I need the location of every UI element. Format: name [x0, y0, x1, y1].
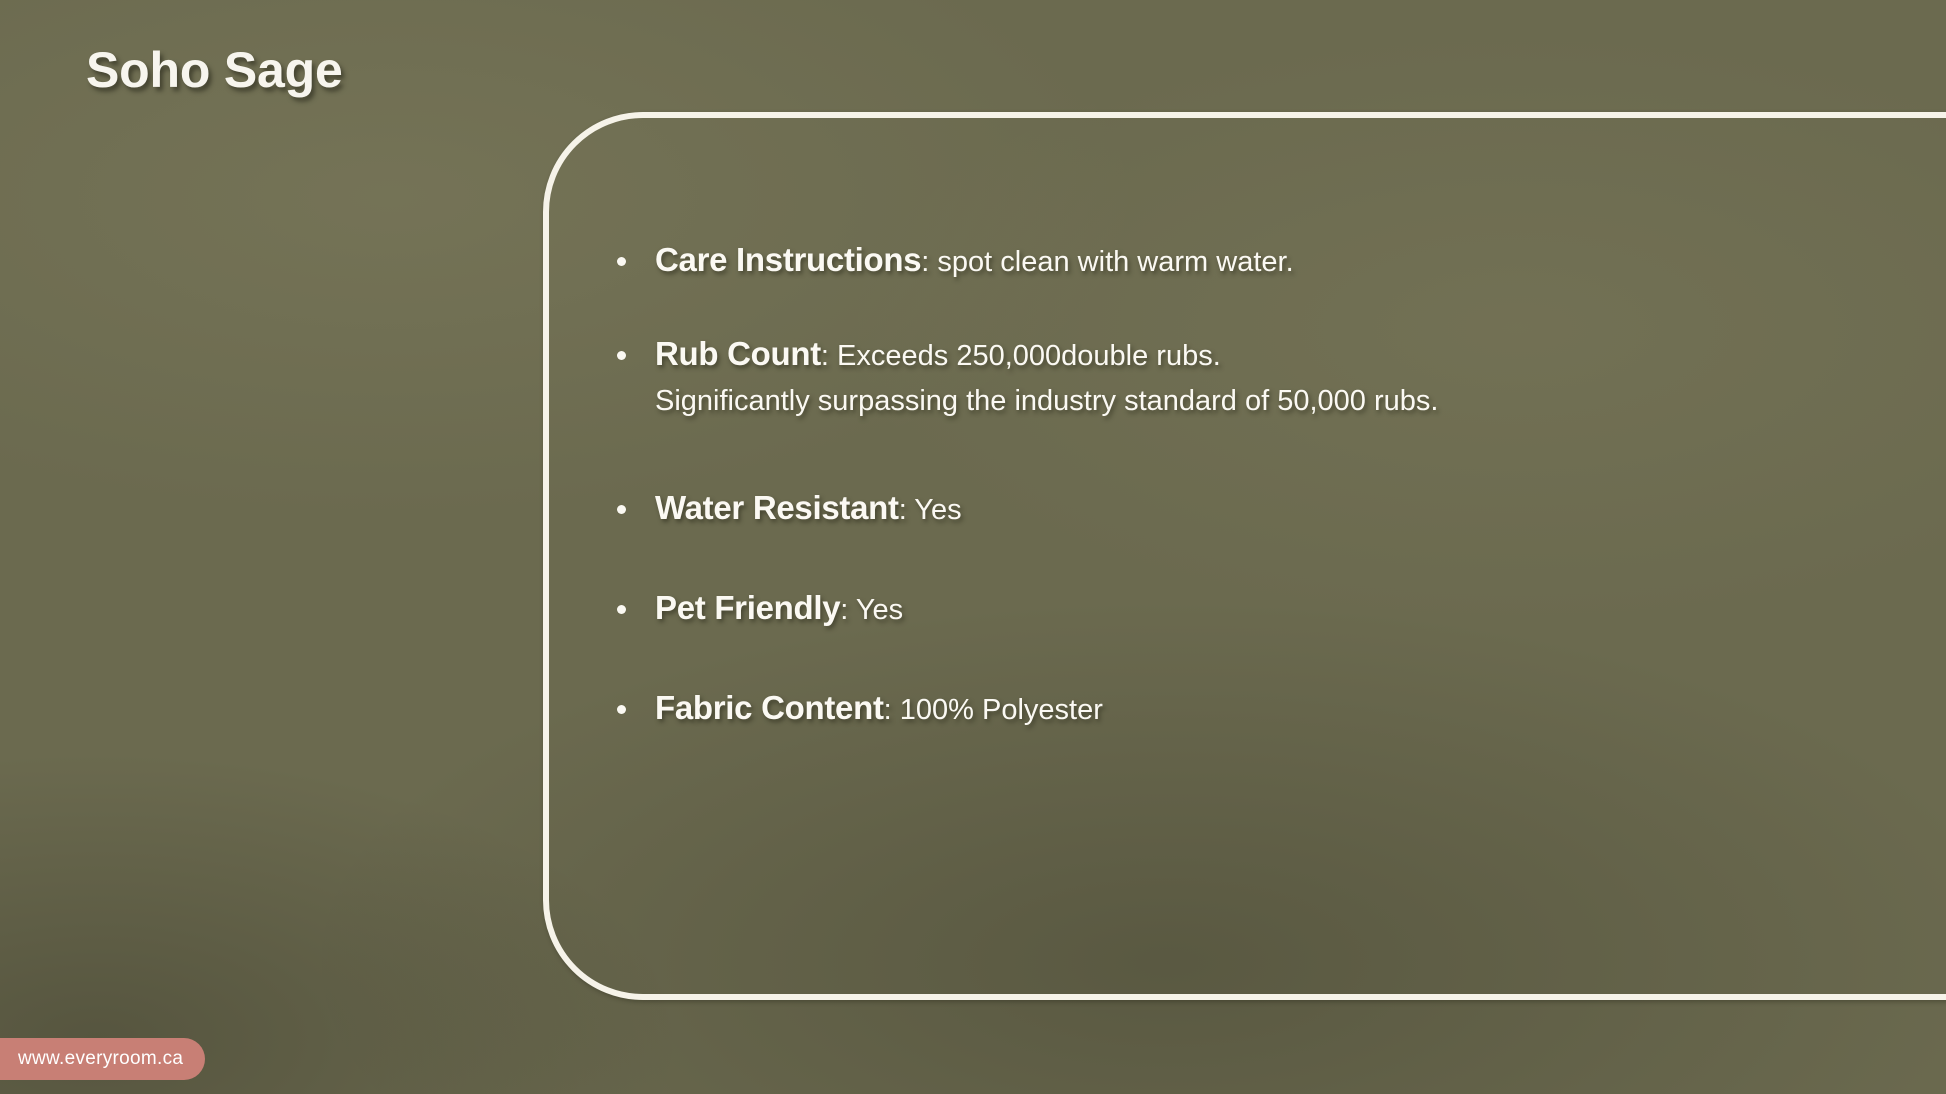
spec-separator: :	[884, 694, 900, 726]
spec-label: Water Resistant	[655, 489, 899, 526]
list-item: Water Resistant: Yes	[611, 486, 1911, 530]
bullet-dot-icon	[617, 257, 626, 266]
spec-value: spot clean with warm water.	[937, 246, 1293, 278]
spec-line: Pet Friendly: Yes	[655, 594, 903, 626]
spec-label: Care Instructions	[655, 241, 921, 278]
bullet-dot-icon	[617, 505, 626, 514]
spec-label: Rub Count	[655, 335, 821, 372]
spec-subline: Significantly surpassing the industry st…	[655, 382, 1911, 421]
list-item: Pet Friendly: Yes	[611, 586, 1911, 630]
spec-value: Exceeds 250,000double rubs.	[837, 340, 1221, 372]
spec-value: Yes	[914, 494, 961, 526]
spec-line: Rub Count: Exceeds 250,000double rubs.	[655, 340, 1221, 372]
list-item: Care Instructions: spot clean with warm …	[611, 238, 1911, 282]
spec-separator: :	[840, 594, 856, 626]
page-title: Soho Sage	[86, 41, 343, 99]
list-item: Rub Count: Exceeds 250,000double rubs. S…	[611, 332, 1911, 420]
spec-label: Fabric Content	[655, 689, 884, 726]
website-url-badge[interactable]: www.everyroom.ca	[0, 1038, 205, 1080]
spec-separator: :	[899, 494, 915, 526]
bullet-dot-icon	[617, 605, 626, 614]
website-url-label: www.everyroom.ca	[18, 1048, 183, 1070]
spec-value: Yes	[856, 594, 903, 626]
spec-line: Fabric Content: 100% Polyester	[655, 694, 1103, 726]
spec-list: Care Instructions: spot clean with warm …	[611, 238, 1911, 730]
spec-label: Pet Friendly	[655, 589, 840, 626]
list-item: Fabric Content: 100% Polyester	[611, 686, 1911, 730]
bullet-dot-icon	[617, 351, 626, 360]
bullet-dot-icon	[617, 705, 626, 714]
spec-value: 100% Polyester	[900, 694, 1103, 726]
spec-line: Water Resistant: Yes	[655, 494, 962, 526]
spec-separator: :	[821, 340, 837, 372]
product-spec-slide: Soho Sage Care Instructions: spot clean …	[0, 0, 1946, 1094]
spec-line: Care Instructions: spot clean with warm …	[655, 246, 1294, 278]
spec-separator: :	[921, 246, 937, 278]
